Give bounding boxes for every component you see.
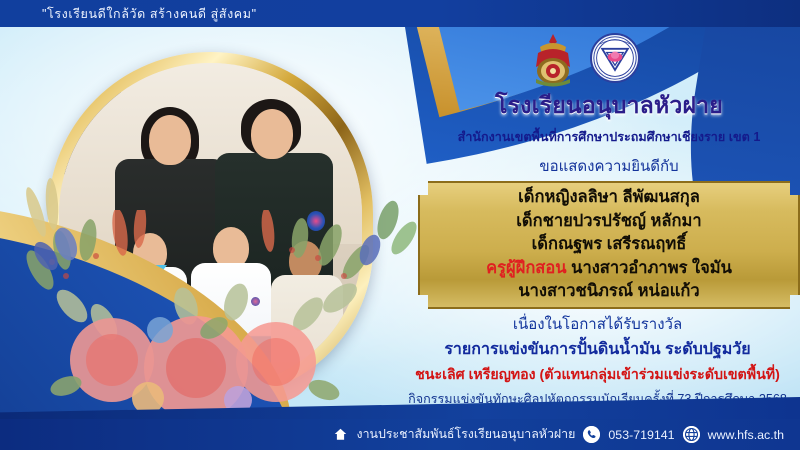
student-3-body: [271, 275, 343, 386]
student-2-emblem: [251, 297, 260, 306]
award-result: ชนะเลิศ เหรียญทอง (ตัวแทนกลุ่มเข้าร่วมแข…: [395, 364, 800, 386]
congratulation-text: ขอแสดงความยินดีกับ: [418, 154, 800, 178]
header-block: โรงเรียนอนุบาลหัวฝาย สำนักงานเขตพื้นที่ก…: [418, 88, 800, 178]
top-bar: "โรงเรียนดีใกล้วัด สร้างคนดี สู่สังคม": [0, 0, 800, 27]
school-seal-icon: [590, 33, 640, 83]
honoree-name-2: เด็กชายปวรปรัชญ์ หลักมา: [516, 210, 701, 233]
honoree-name-3: เด็กณฐพร เสรีรณฤทธิ์: [532, 233, 687, 256]
school-motto: "โรงเรียนดีใกล้วัด สร้างคนดี สู่สังคม": [42, 4, 257, 24]
logo-row: [530, 33, 640, 87]
award-occasion: เนื่องในโอกาสได้รับรางวัล: [395, 312, 800, 336]
school-name: โรงเรียนอนุบาลหัวฝาย: [418, 88, 800, 124]
certificate-poster: "โรงเรียนดีใกล้วัด สร้างคนดี สู่สังคม": [0, 0, 800, 450]
footer-bar: งานประชาสัมพันธ์โรงเรียนอนุบาลหัวฝาย 053…: [0, 419, 800, 450]
pr-label: งานประชาสัมพันธ์โรงเรียนอนุบาลหัวฝาย: [357, 425, 576, 444]
honoree-panel: เด็กหญิงลลิษา ลีพัฒนสกุล เด็กชายปวรปรัชญ…: [418, 181, 800, 309]
phone-icon: [583, 426, 600, 443]
teacher-2-uniform-badge: [307, 211, 325, 231]
teacher-1-head: [149, 115, 191, 165]
phone-number[interactable]: 053-719141: [608, 428, 674, 442]
coach-name-1: นางสาวอำภาพร ใจมัน: [571, 259, 732, 277]
home-icon: [332, 426, 349, 443]
coach-name-2: นางสาวชนิภรณ์ หน่อแก้ว: [518, 280, 699, 303]
ministry-of-education-emblem-icon: [530, 33, 576, 87]
globe-icon: [683, 426, 700, 443]
teacher-2-head: [251, 109, 293, 159]
coach-label: ครูผู้ฝึกสอน: [486, 259, 567, 277]
education-office-name: สำนักงานเขตพื้นที่การศึกษาประถมศึกษาเชีย…: [418, 127, 800, 147]
honoree-name-1: เด็กหญิงลลิษา ลีพัฒนสกุล: [518, 186, 700, 209]
website-url[interactable]: www.hfs.ac.th: [708, 428, 784, 442]
coach-line: ครูผู้ฝึกสอน นางสาวอำภาพร ใจมัน: [486, 257, 732, 280]
award-competition: รายการแข่งขันการปั้นดินน้ำมัน ระดับปฐมวั…: [395, 337, 800, 362]
